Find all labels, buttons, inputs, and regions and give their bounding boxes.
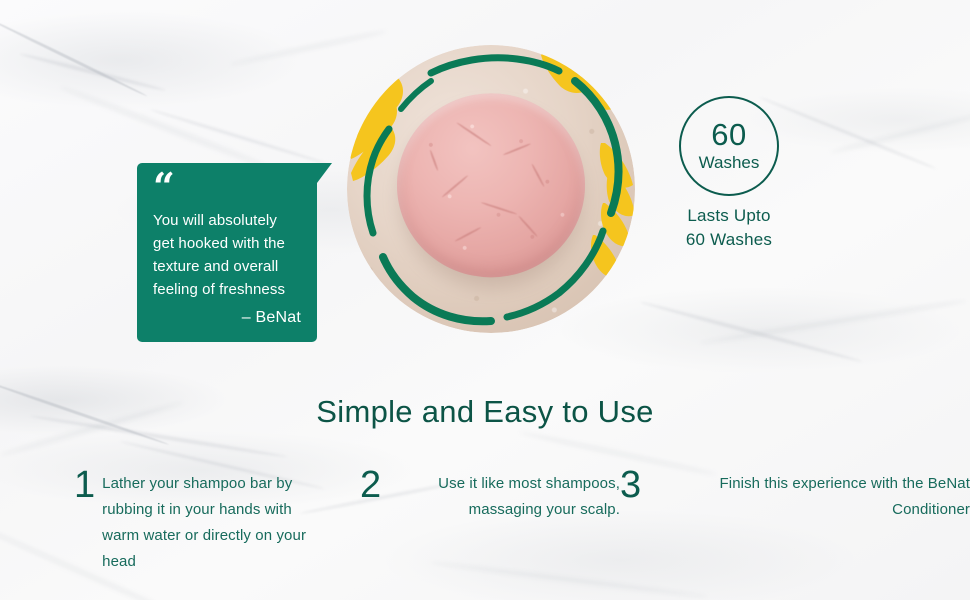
- quote-text: You will absolutely get hooked with the …: [153, 209, 301, 301]
- marble-vein: [59, 84, 276, 172]
- quote-mark-icon: “: [153, 175, 301, 199]
- step-text: Use it like most shampoos, massaging you…: [388, 468, 620, 523]
- quote-author: – BeNat: [153, 309, 301, 327]
- marble-vein: [20, 52, 167, 92]
- product-photo: [347, 45, 635, 333]
- marble-vein: [759, 96, 936, 170]
- step-item: 1 Lather your shampoo bar by rubbing it …: [0, 468, 330, 575]
- sunflower-petals-left: [349, 77, 403, 181]
- washes-badge: 60 Washes: [679, 96, 779, 196]
- step-number: 2: [360, 468, 381, 502]
- step-item: 2 Use it like most shampoos, massaging y…: [330, 468, 620, 575]
- washes-count: 60: [711, 119, 746, 151]
- step-text: Finish this experience with the BeNat Co…: [648, 468, 970, 523]
- marble-vein: [700, 298, 968, 346]
- photo-decoration-overlay: [347, 45, 635, 333]
- sunflower-petals-top-right: [541, 47, 617, 110]
- washes-caption-line-1: Lasts Upto: [629, 204, 829, 228]
- marble-vein: [0, 18, 148, 97]
- green-brush-ring: [367, 58, 618, 322]
- quote-card: “ You will absolutely get hooked with th…: [137, 163, 317, 342]
- washes-caption-line-2: 60 Washes: [629, 228, 829, 252]
- marble-vein: [150, 108, 328, 165]
- headline: Simple and Easy to Use: [0, 394, 970, 430]
- steps-list: 1 Lather your shampoo bar by rubbing it …: [0, 468, 970, 575]
- washes-unit-label: Washes: [699, 152, 760, 173]
- step-number: 3: [620, 468, 641, 502]
- infographic-canvas: “ You will absolutely get hooked with th…: [0, 0, 970, 600]
- step-number: 1: [74, 468, 95, 502]
- step-item: 3 Finish this experience with the BeNat …: [620, 468, 970, 575]
- marble-vein: [639, 300, 862, 363]
- step-text: Lather your shampoo bar by rubbing it in…: [102, 468, 330, 575]
- washes-caption: Lasts Upto 60 Washes: [629, 204, 829, 252]
- marble-vein: [829, 111, 970, 155]
